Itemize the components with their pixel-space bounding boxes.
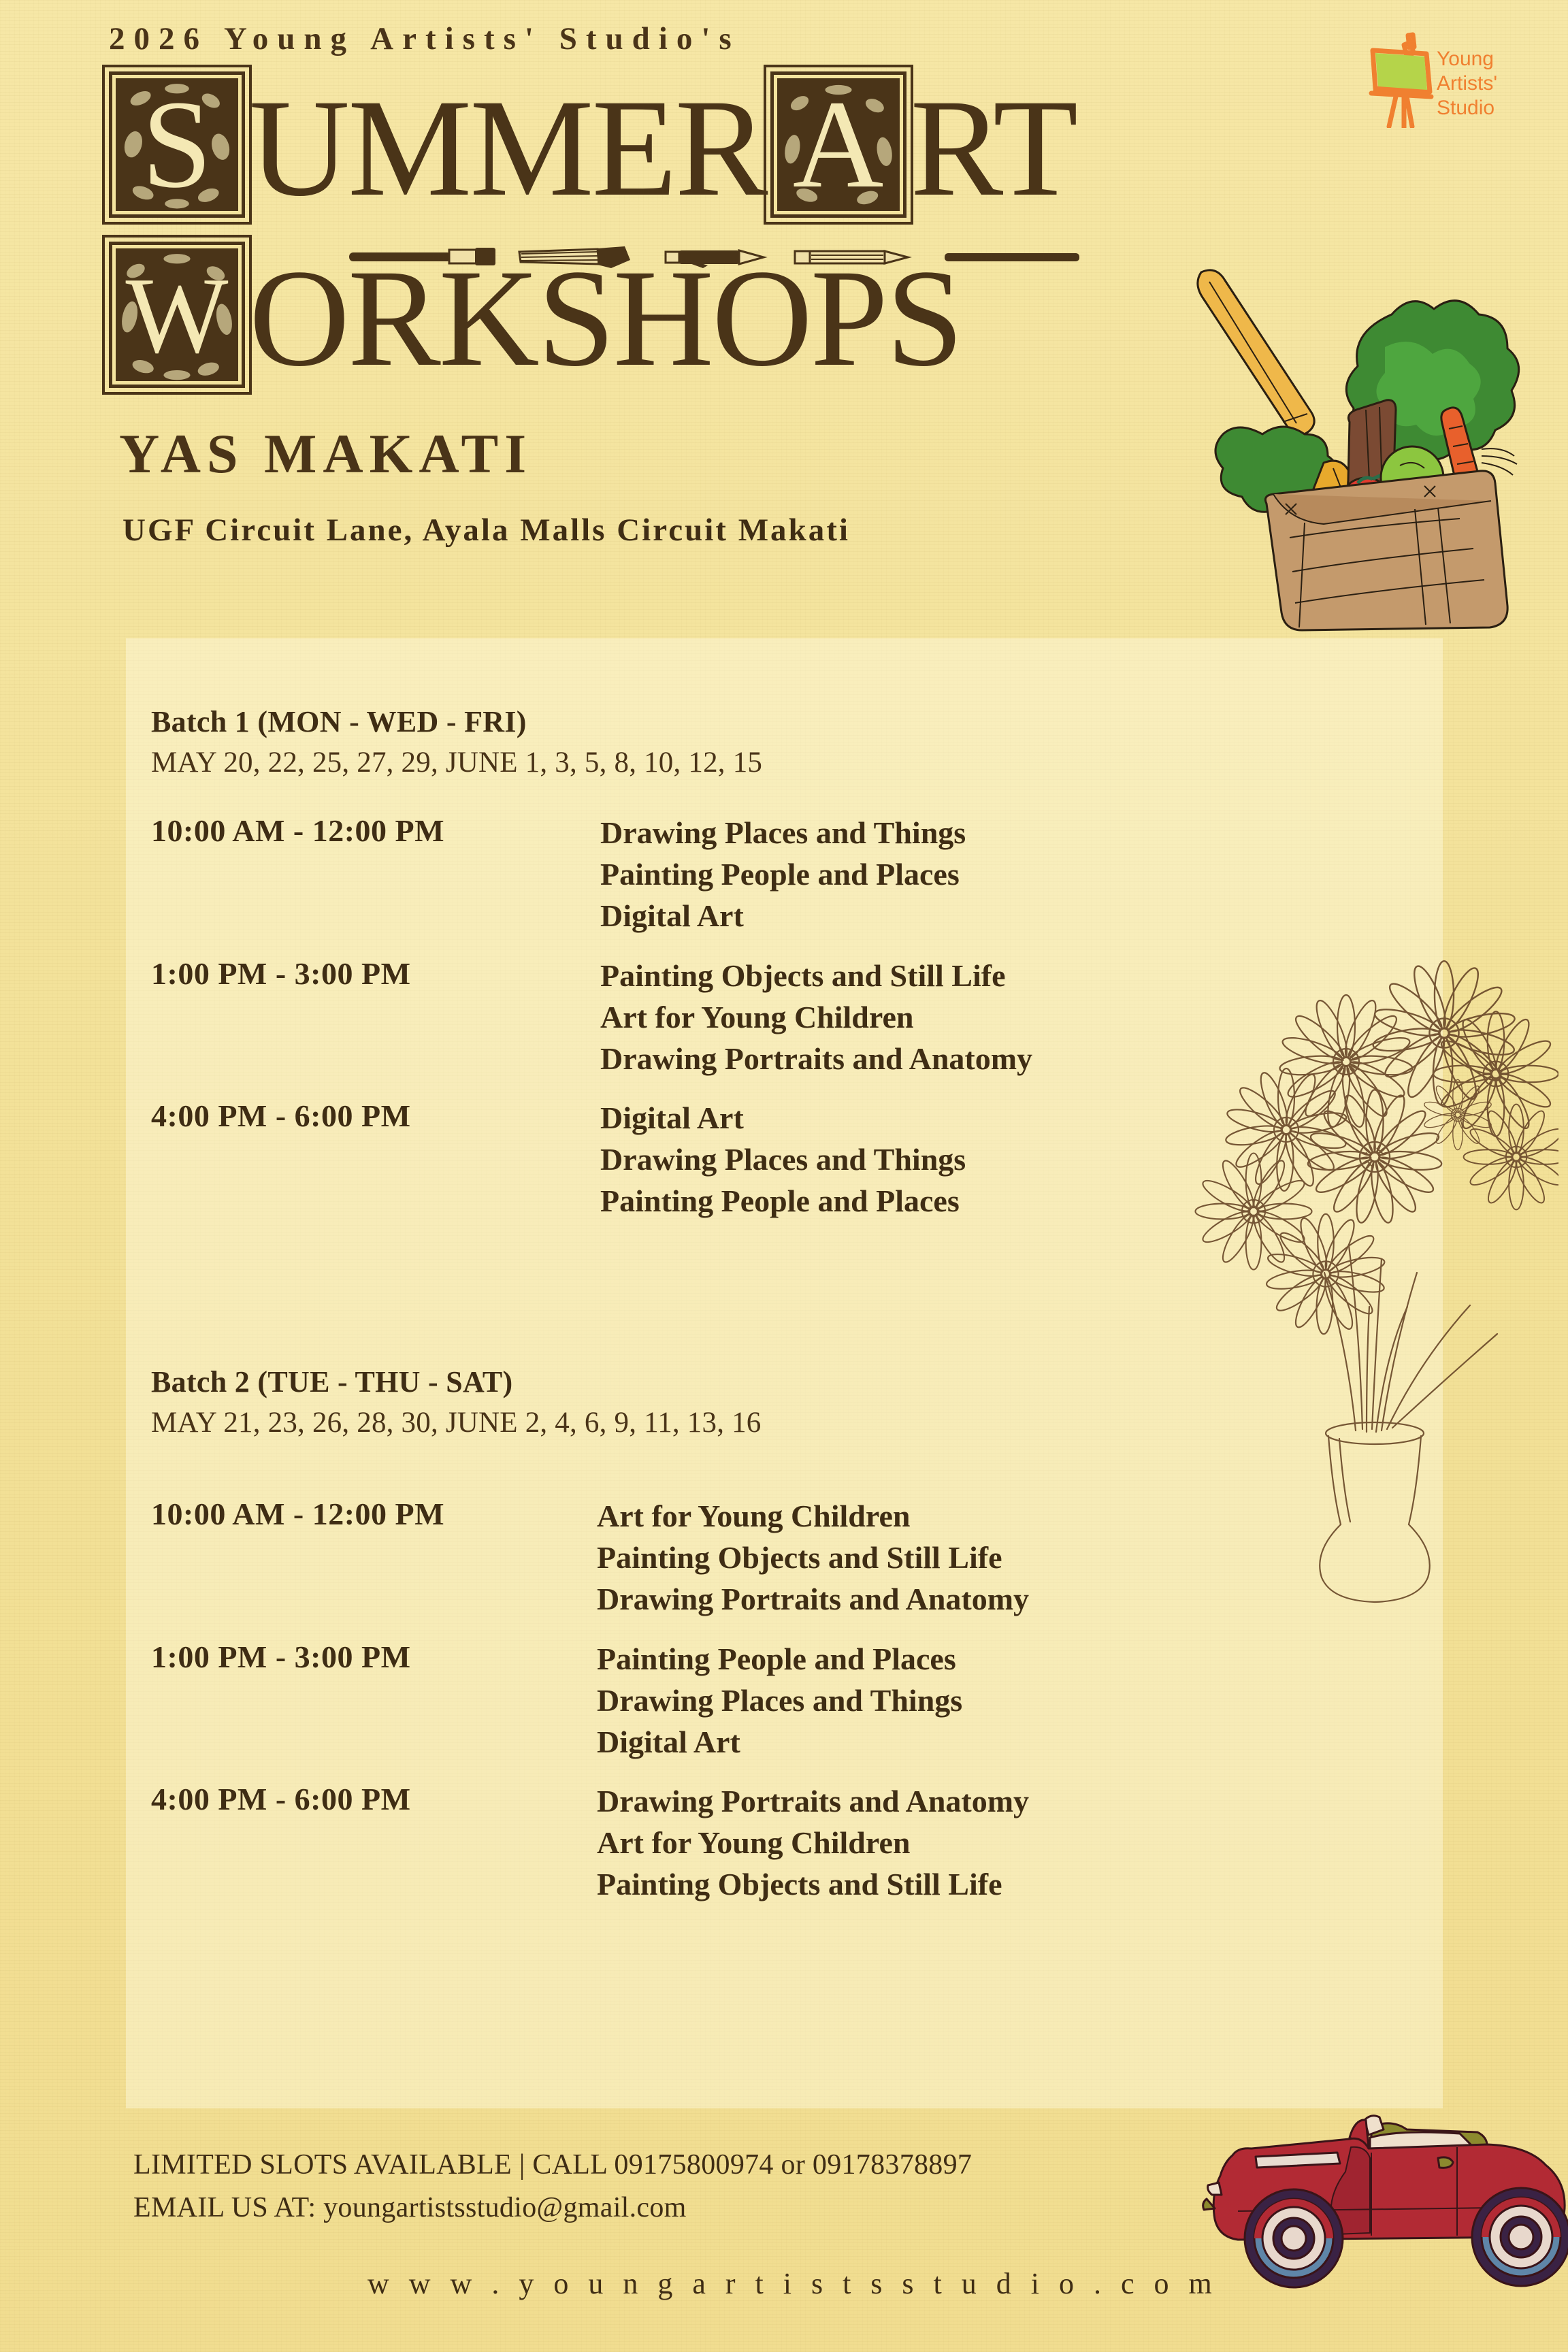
- batch-1-dates: MAY 20, 22, 25, 27, 29, JUNE 1, 3, 5, 8,…: [151, 746, 1032, 779]
- title-line-summer-art: S UMMER A RT: [109, 71, 1076, 218]
- course-item: Painting Objects and Still Life: [600, 955, 1032, 996]
- session-course-list: Drawing Places and Things Painting Peopl…: [600, 812, 1032, 937]
- course-item: Drawing Portraits and Anatomy: [600, 1038, 1032, 1079]
- session-course-list: Painting People and Places Drawing Place…: [597, 1638, 1029, 1763]
- course-item: Drawing Places and Things: [597, 1680, 1029, 1721]
- footer-contact: LIMITED SLOTS AVAILABLE | CALL 091758009…: [133, 2144, 972, 2229]
- course-item: Painting Objects and Still Life: [597, 1537, 1029, 1578]
- course-item: Drawing Places and Things: [600, 812, 1032, 853]
- footer-email[interactable]: EMAIL US AT: youngartistsstudio@gmail.co…: [133, 2187, 972, 2229]
- course-item: Drawing Portraits and Anatomy: [597, 1780, 1029, 1822]
- title-line-workshops: W ORKSHOPS: [109, 242, 962, 388]
- session-row: 10:00 AM - 12:00 PM Art for Young Childr…: [151, 1495, 1029, 1620]
- vintage-car-illustration: [1167, 2100, 1568, 2304]
- daisy-bouquet-icon: [1177, 953, 1558, 1606]
- course-item: Drawing Portraits and Anatomy: [597, 1578, 1029, 1620]
- logo-line-1: Young: [1437, 48, 1494, 70]
- session-row: 1:00 PM - 3:00 PM Painting Objects and S…: [151, 955, 1032, 1080]
- title-word-orkshops: ORKSHOPS: [249, 255, 962, 383]
- course-item: Art for Young Children: [600, 996, 1032, 1038]
- course-item: Digital Art: [597, 1721, 1029, 1763]
- kicker-text: 2026 Young Artists' Studio's: [109, 20, 740, 57]
- session-course-list: Digital Art Drawing Places and Things Pa…: [600, 1097, 1032, 1222]
- batch-2-dates: MAY 21, 23, 26, 28, 30, JUNE 2, 4, 6, 9,…: [151, 1406, 1029, 1439]
- course-item: Painting People and Places: [600, 1180, 1032, 1222]
- session-course-list: Painting Objects and Still Life Art for …: [600, 955, 1032, 1080]
- dropcap-s: S: [109, 71, 245, 218]
- course-item: Digital Art: [600, 895, 1032, 936]
- course-item: Painting People and Places: [597, 1638, 1029, 1680]
- session-row: 10:00 AM - 12:00 PM Drawing Places and T…: [151, 812, 1032, 937]
- course-item: Art for Young Children: [597, 1495, 1029, 1537]
- location-address: UGF Circuit Lane, Ayala Malls Circuit Ma…: [122, 512, 850, 549]
- session-time: 4:00 PM - 6:00 PM: [151, 1780, 597, 1906]
- session-time: 1:00 PM - 3:00 PM: [151, 955, 600, 1080]
- course-item: Digital Art: [600, 1097, 1032, 1139]
- course-item: Painting Objects and Still Life: [597, 1863, 1029, 1905]
- session-time: 10:00 AM - 12:00 PM: [151, 1495, 597, 1620]
- course-item: Drawing Places and Things: [600, 1139, 1032, 1180]
- logo-line-3: Studio: [1437, 97, 1494, 119]
- session-time: 10:00 AM - 12:00 PM: [151, 812, 600, 937]
- dropcap-s-letter: S: [116, 79, 238, 210]
- batch-1-title: Batch 1 (MON - WED - FRI): [151, 704, 1032, 739]
- batch-2-title: Batch 2 (TUE - THU - SAT): [151, 1365, 1029, 1399]
- course-item: Painting People and Places: [600, 853, 1032, 895]
- course-item: Art for Young Children: [597, 1822, 1029, 1863]
- dropcap-a-letter: A: [778, 79, 899, 210]
- session-time: 4:00 PM - 6:00 PM: [151, 1097, 600, 1222]
- grocery-bag-icon: [1188, 252, 1541, 633]
- session-course-list: Drawing Portraits and Anatomy Art for Yo…: [597, 1780, 1029, 1906]
- session-row: 1:00 PM - 3:00 PM Painting People and Pl…: [151, 1638, 1029, 1763]
- session-row: 4:00 PM - 6:00 PM Drawing Portraits and …: [151, 1780, 1029, 1906]
- dropcap-w: W: [109, 242, 245, 388]
- session-course-list: Art for Young Children Painting Objects …: [597, 1495, 1029, 1620]
- footer-slots-and-phone: LIMITED SLOTS AVAILABLE | CALL 091758009…: [133, 2144, 972, 2187]
- dropcap-a: A: [770, 71, 906, 218]
- vintage-convertible-icon: [1167, 2100, 1568, 2304]
- title-word-ummer: UMMER: [249, 84, 766, 213]
- footer-website[interactable]: w w w . y o u n g a r t i s t s s t u d …: [367, 2266, 1218, 2301]
- location-name: YAS MAKATI: [119, 422, 532, 486]
- flower-vase-illustration: [1177, 953, 1558, 1606]
- easel-icon: Young Artists' Studio: [1330, 26, 1511, 128]
- title-word-rt: RT: [911, 84, 1077, 213]
- grocery-bag-illustration: [1188, 252, 1541, 633]
- session-row: 4:00 PM - 6:00 PM Digital Art Drawing Pl…: [151, 1097, 1032, 1222]
- session-time: 1:00 PM - 3:00 PM: [151, 1638, 597, 1763]
- dropcap-w-letter: W: [116, 249, 238, 380]
- batch-2-block: Batch 2 (TUE - THU - SAT) MAY 21, 23, 26…: [151, 1365, 1029, 1923]
- logo-line-2: Artists': [1437, 72, 1497, 95]
- studio-logo[interactable]: Young Artists' Studio: [1330, 26, 1511, 128]
- batch-1-block: Batch 1 (MON - WED - FRI) MAY 20, 22, 25…: [151, 704, 1032, 1240]
